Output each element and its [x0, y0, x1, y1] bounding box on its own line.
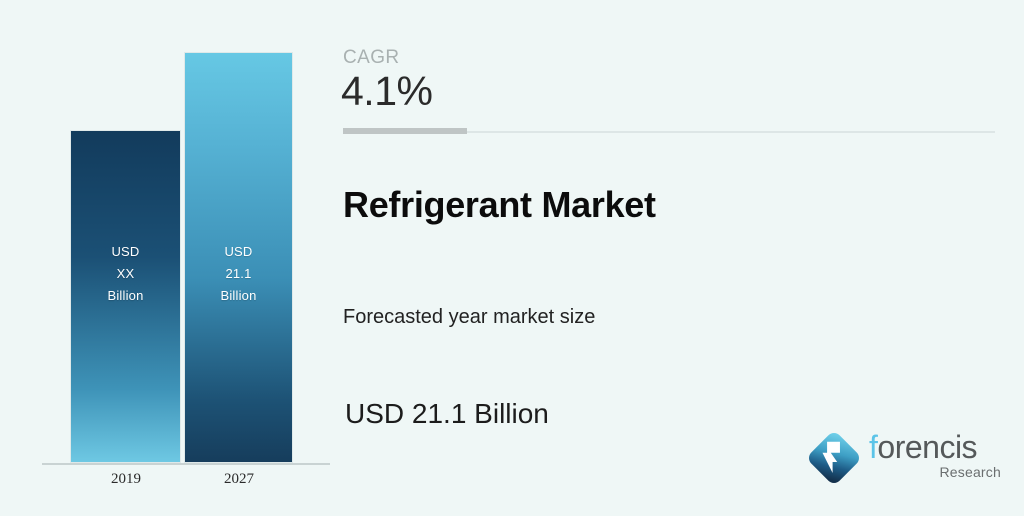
bar-2027: USD 21.1 Billion: [184, 52, 293, 463]
forencis-wordmark: forencis Research: [869, 430, 1003, 480]
bar-chart: USD XX Billion USD 21.1 Billion 2019 202…: [0, 0, 340, 516]
bar-2019-unit: Billion: [71, 285, 180, 307]
cagr-label: CAGR: [343, 47, 400, 69]
bar-2027-label: USD 21.1 Billion: [185, 241, 292, 307]
forencis-tagline: Research: [869, 464, 1003, 480]
page-title: Refrigerant Market: [343, 184, 656, 226]
bar-2019: USD XX Billion: [70, 130, 181, 463]
forencis-brand-rest: orencis: [877, 429, 977, 465]
bar-2019-value: XX: [71, 263, 180, 285]
bar-2027-currency: USD: [185, 241, 292, 263]
cagr-value: 4.1%: [341, 68, 432, 115]
forencis-brand-text: forencis: [869, 430, 1003, 464]
x-axis-line: [42, 463, 330, 465]
forencis-research-logo: forencis Research: [803, 424, 1003, 494]
infographic-canvas: USD XX Billion USD 21.1 Billion 2019 202…: [0, 0, 1024, 516]
x-tick-2027: 2027: [179, 471, 299, 488]
divider-accent-segment: [343, 128, 467, 134]
bar-2027-unit: Billion: [185, 285, 292, 307]
bar-2019-label: USD XX Billion: [71, 241, 180, 307]
bar-2027-value: 21.1: [185, 263, 292, 285]
bar-2019-currency: USD: [71, 241, 180, 263]
forencis-diamond-icon: [803, 427, 865, 489]
forecast-value: USD 21.1 Billion: [345, 398, 549, 430]
x-tick-2019: 2019: [66, 471, 186, 488]
forecast-subtitle: Forecasted year market size: [343, 306, 595, 329]
